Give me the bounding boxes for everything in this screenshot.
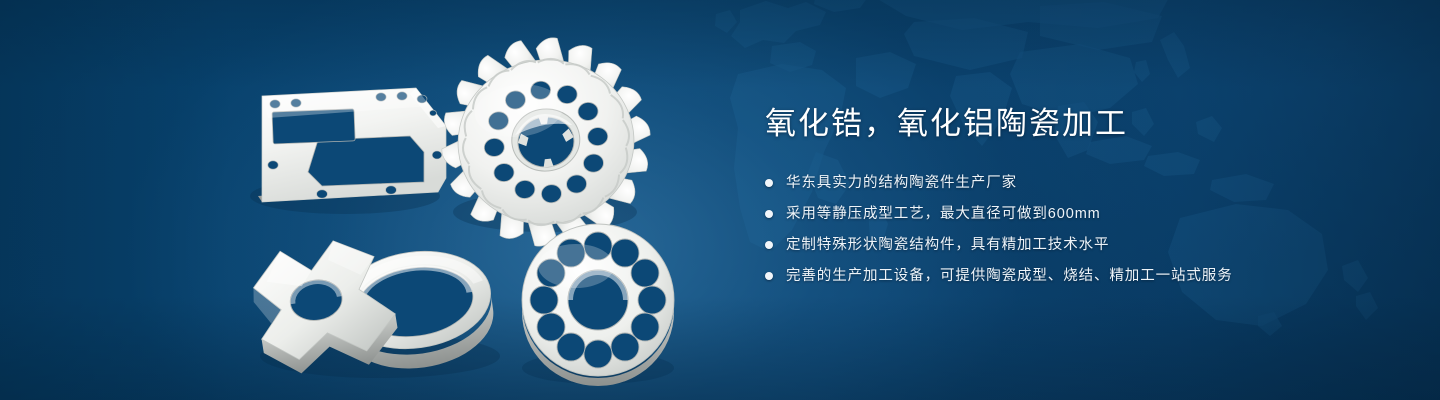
list-item-label: 华东具实力的结构陶瓷件生产厂家 [786, 171, 1017, 196]
banner-copy: 氧化锆，氧化铝陶瓷加工 华东具实力的结构陶瓷件生产厂家 采用等静压成型工艺，最大… [765, 106, 1365, 295]
feature-list: 华东具实力的结构陶瓷件生产厂家 采用等静压成型工艺，最大直径可做到600mm 定… [765, 171, 1365, 289]
product-photo-group [0, 0, 720, 400]
list-item-label: 定制特殊形状陶瓷结构件，具有精加工技术水平 [786, 233, 1109, 258]
list-item: 采用等静压成型工艺，最大直径可做到600mm [765, 202, 1365, 227]
list-item: 定制特殊形状陶瓷结构件，具有精加工技术水平 [765, 233, 1365, 258]
ceramic-perforated-disc [522, 224, 674, 386]
hero-banner: 氧化锆，氧化铝陶瓷加工 华东具实力的结构陶瓷件生产厂家 采用等静压成型工艺，最大… [0, 0, 1440, 400]
page-title: 氧化锆，氧化铝陶瓷加工 [765, 106, 1365, 143]
list-item: 完善的生产加工设备，可提供陶瓷成型、烧结、精加工一站式服务 [765, 264, 1365, 289]
list-item-label: 采用等静压成型工艺，最大直径可做到600mm [786, 202, 1101, 227]
bullet-dot-icon [765, 241, 773, 249]
list-item: 华东具实力的结构陶瓷件生产厂家 [765, 171, 1365, 196]
bullet-dot-icon [765, 179, 773, 187]
ceramic-impeller-disc [429, 25, 662, 258]
ceramic-mounting-plate [258, 88, 446, 202]
bullet-dot-icon [765, 210, 773, 218]
bullet-dot-icon [765, 272, 773, 280]
list-item-label: 完善的生产加工设备，可提供陶瓷成型、烧结、精加工一站式服务 [786, 264, 1233, 289]
